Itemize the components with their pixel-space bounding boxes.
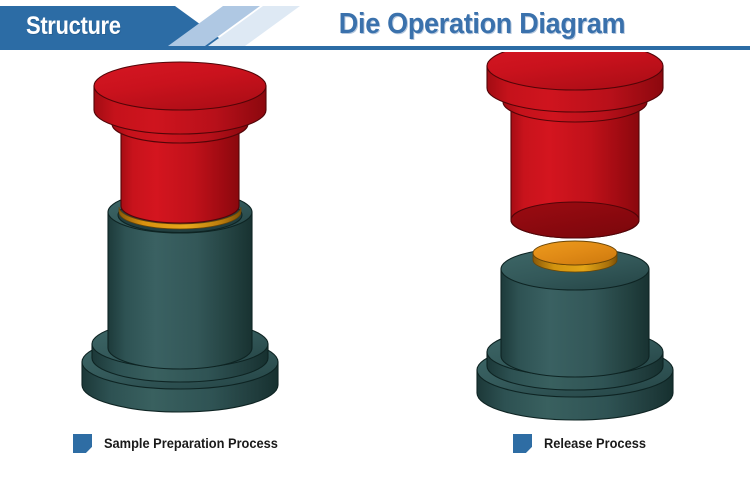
page-header: Structure Die Operation Diagram — [0, 0, 750, 52]
release-assembly — [455, 52, 695, 427]
legend-marker-icon — [73, 434, 92, 453]
release-process-svg — [455, 52, 695, 422]
legend-marker-icon — [513, 434, 532, 453]
die-operation-diagram-page: Structure Die Operation Diagram — [0, 0, 750, 483]
legend-label: Sample Preparation Process — [104, 436, 278, 451]
legend-item-sample-preparation: Sample Preparation Process — [73, 434, 287, 453]
page-title: Die Operation Diagram — [296, 6, 668, 42]
sample-preparation-svg — [60, 52, 300, 422]
legend-item-release: Release Process — [513, 434, 651, 453]
sample-pellet — [533, 241, 617, 272]
punch-cap — [487, 52, 663, 112]
punch-cap — [94, 62, 266, 134]
diagram-area — [0, 52, 750, 430]
legend-label: Release Process — [544, 436, 646, 451]
structure-tag-label: Structure — [26, 10, 121, 42]
header-rule — [0, 46, 750, 50]
sample-preparation-assembly — [60, 52, 300, 427]
